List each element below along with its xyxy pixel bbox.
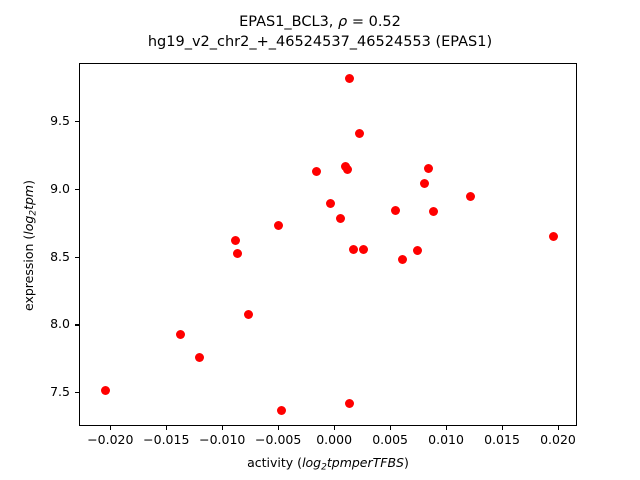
- x-tick-mark: [334, 426, 335, 430]
- x-axis-label-suffix: ): [404, 455, 409, 470]
- x-tick-mark: [446, 426, 447, 430]
- y-axis-label-log: log: [21, 216, 36, 235]
- data-points-layer: [80, 64, 576, 425]
- x-axis-label-prefix: activity (: [247, 455, 302, 470]
- data-point: [398, 255, 407, 264]
- data-point: [312, 167, 321, 176]
- x-tick-mark: [166, 426, 167, 430]
- data-point: [420, 179, 429, 188]
- data-point: [277, 406, 286, 415]
- data-point: [336, 214, 345, 223]
- data-point: [101, 386, 110, 395]
- x-axis-label: activity (log2tpmperTFBS): [79, 455, 577, 473]
- data-point: [349, 245, 358, 254]
- data-point: [391, 206, 400, 215]
- y-axis-label-suffix: ): [21, 180, 36, 185]
- x-tick-mark: [558, 426, 559, 430]
- chart-title-line-1: EPAS1_BCL3, ρ = 0.52: [0, 12, 640, 32]
- y-tick-mark: [75, 324, 79, 325]
- y-axis-label: expression (log2tpm): [21, 64, 39, 427]
- chart-title-gene: EPAS1_BCL3,: [239, 14, 338, 30]
- y-tick-mark: [75, 189, 79, 190]
- x-axis-label-log: log: [302, 455, 321, 470]
- data-point: [359, 245, 368, 254]
- plot-area: [79, 63, 577, 426]
- x-tick-mark: [278, 426, 279, 430]
- chart-title-line-2: hg19_v2_chr2_+_46524537_46524553 (EPAS1): [0, 32, 640, 52]
- data-point: [345, 399, 354, 408]
- data-point: [345, 74, 354, 83]
- data-point: [244, 310, 253, 319]
- rho-symbol: ρ: [338, 14, 347, 30]
- x-axis-label-unit: tpmperTFBS: [327, 455, 404, 470]
- data-point: [176, 330, 185, 339]
- data-point: [466, 192, 475, 201]
- data-point: [355, 129, 364, 138]
- data-point: [231, 236, 240, 245]
- data-point: [343, 165, 352, 174]
- y-tick-mark: [75, 392, 79, 393]
- x-tick-mark: [502, 426, 503, 430]
- y-tick-mark: [75, 257, 79, 258]
- y-axis-label-unit: tpm: [21, 185, 36, 210]
- y-axis-label-prefix: expression (: [21, 235, 36, 311]
- x-tick-label: 0.020: [523, 432, 593, 447]
- x-tick-mark: [222, 426, 223, 430]
- data-point: [413, 246, 422, 255]
- x-tick-mark: [110, 426, 111, 430]
- rho-value: = 0.52: [347, 14, 401, 30]
- data-point: [429, 207, 438, 216]
- data-point: [274, 221, 283, 230]
- x-tick-mark: [390, 426, 391, 430]
- data-point: [195, 353, 204, 362]
- data-point: [549, 232, 558, 241]
- data-point: [233, 249, 242, 258]
- data-point: [424, 164, 433, 173]
- y-tick-mark: [75, 121, 79, 122]
- y-axis-label-log-subscript: 2: [29, 210, 39, 216]
- scatter-figure: EPAS1_BCL3, ρ = 0.52 hg19_v2_chr2_+_4652…: [0, 0, 640, 480]
- chart-title: EPAS1_BCL3, ρ = 0.52 hg19_v2_chr2_+_4652…: [0, 12, 640, 52]
- data-point: [326, 199, 335, 208]
